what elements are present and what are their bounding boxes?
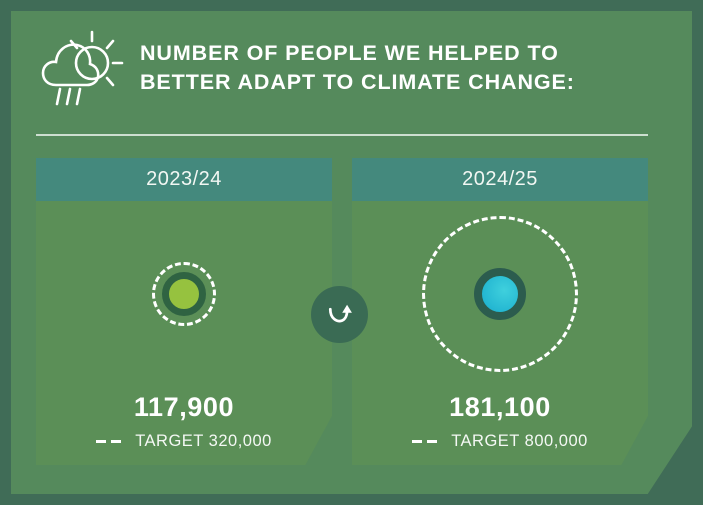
page-title-line-2: BETTER ADAPT TO CLIMATE CHANGE: xyxy=(140,68,575,96)
target-row-2023-24: TARGET 320,000 xyxy=(36,432,332,451)
header-divider xyxy=(36,134,648,136)
dashed-legend-icon xyxy=(412,440,442,443)
actual-value-dot-icon xyxy=(162,272,206,316)
metric-value-2023-24: 117,900 xyxy=(36,392,332,423)
card-header-2023-24: 2023/24 xyxy=(36,158,332,201)
progress-graphic-2024-25 xyxy=(352,201,648,386)
header: NUMBER OF PEOPLE WE HELPED TO BETTER ADA… xyxy=(36,20,656,115)
infographic-root: NUMBER OF PEOPLE WE HELPED TO BETTER ADA… xyxy=(0,0,703,505)
metric-card-2024-25: 2024/25 181,100 TARGET 800,000 xyxy=(352,158,648,465)
page-title-line-1: NUMBER OF PEOPLE WE HELPED TO xyxy=(140,39,575,67)
target-label-2023-24: TARGET 320,000 xyxy=(135,432,272,451)
card-body-2023-24: 117,900 TARGET 320,000 xyxy=(36,201,332,465)
curved-up-arrow-icon xyxy=(325,301,355,328)
metric-card-2023-24: 2023/24 117,900 TARGET 320,000 xyxy=(36,158,332,465)
progress-graphic-2023-24 xyxy=(36,201,332,386)
card-period-label: 2023/24 xyxy=(146,168,222,191)
progress-arrow-badge xyxy=(311,286,368,343)
page-title: NUMBER OF PEOPLE WE HELPED TO BETTER ADA… xyxy=(140,39,575,96)
actual-value-dot-icon xyxy=(474,268,526,320)
target-row-2024-25: TARGET 800,000 xyxy=(352,432,648,451)
card-body-2024-25: 181,100 TARGET 800,000 xyxy=(352,201,648,465)
metric-value-2024-25: 181,100 xyxy=(352,392,648,423)
sun-behind-rain-cloud-icon xyxy=(36,28,128,108)
dashed-legend-icon xyxy=(96,440,126,443)
card-header-2024-25: 2024/25 xyxy=(352,158,648,201)
target-label-2024-25: TARGET 800,000 xyxy=(451,432,588,451)
card-period-label: 2024/25 xyxy=(462,168,538,191)
